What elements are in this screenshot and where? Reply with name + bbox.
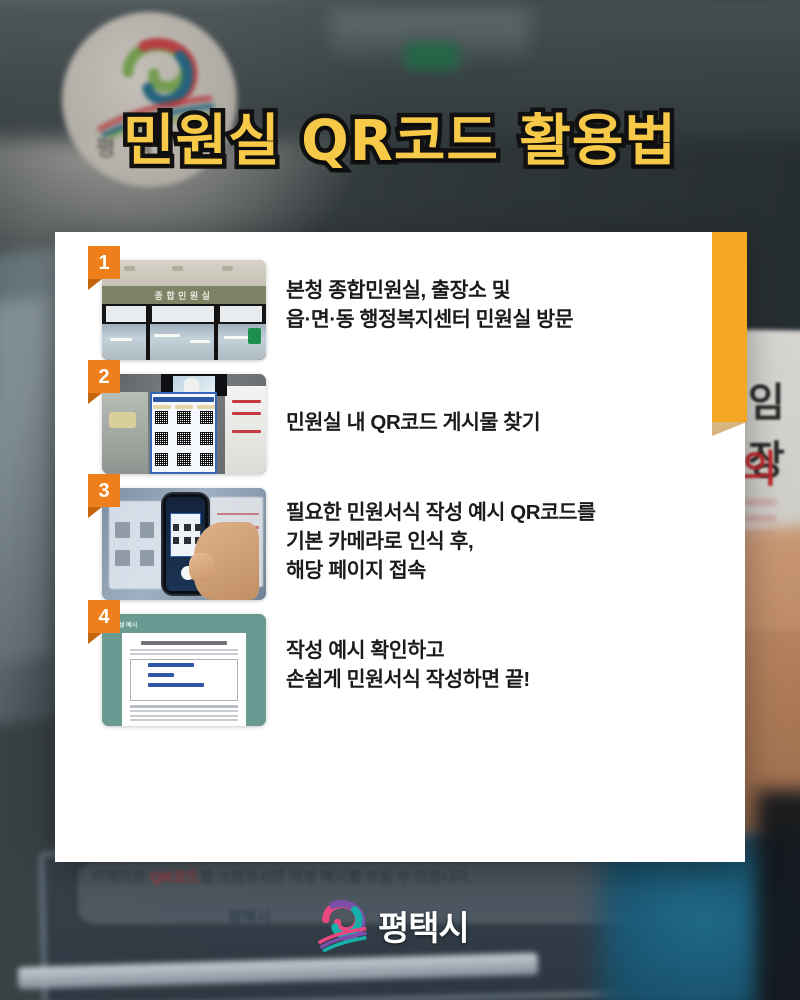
thumb1-ceiling [102, 260, 266, 288]
thumb2-banner-line [232, 400, 262, 403]
thumb1-interior [102, 324, 266, 360]
caption-head: 카메라로 [92, 870, 150, 886]
thumb2-left-wall [102, 392, 148, 474]
step-thumbnail-wrap: 3 [102, 488, 266, 600]
step-number-badge: 2 [88, 360, 120, 393]
step-description: 민원실 내 QR코드 게시물 찾기 [286, 374, 540, 437]
thumb1-ceiling-dot [124, 266, 135, 271]
thumb1-lamp [110, 338, 132, 341]
background-dark-edge [756, 790, 800, 1000]
thumb4-doc-title [141, 641, 226, 645]
thumb2-qr-code [177, 432, 190, 445]
thumb1-sign-band: 종합민원실 [102, 286, 266, 304]
page-title: 민원실 QR코드 활용법 [0, 96, 800, 177]
thumb2-qr-code [155, 432, 168, 445]
thumb1-sign-text: 종합민원실 [155, 289, 214, 302]
thumb4-doc-line [130, 705, 238, 708]
thumb3-captured-qr [173, 537, 180, 544]
thumb1-ceiling-dot [172, 266, 183, 271]
thumb2-qr-code [177, 453, 190, 466]
thumb2-banner-line [232, 412, 262, 415]
step4-thumbnail: 작성 예시 [102, 614, 266, 726]
thumb2-qr-label [153, 405, 171, 409]
thumb2-tv-person [184, 378, 199, 393]
step1-thumbnail: 종합민원실 [102, 260, 266, 360]
thumb3-thumb-finger [189, 553, 214, 582]
thumb1-lamp [224, 336, 248, 339]
step-number-badge: 3 [88, 474, 120, 507]
step-item: 4 작성 예시 [55, 614, 745, 726]
thumb2-qr-code [155, 411, 168, 424]
thumb1-mullion [146, 304, 150, 360]
thumb1-mullion [214, 304, 218, 360]
step-item: 2 [55, 374, 745, 474]
thumb1-exit-marker [248, 328, 261, 344]
infographic-canvas: 평 택 임장 의 카메라로 QR코드를 스캔하시면 작성 예시를 보실 수 있습… [0, 0, 800, 1000]
exit-sign [405, 42, 459, 70]
thumb4-doc-line [130, 710, 238, 712]
right-poster-text-red: 의 [742, 438, 776, 493]
thumb3-board-qr [115, 522, 130, 539]
step-description: 본청 종합민원실, 출장소 및 읍·면·동 행정복지센터 민원실 방문 [286, 260, 573, 334]
thumb2-qr-code [155, 453, 168, 466]
thumb4-highlight [148, 683, 204, 686]
thumb4-highlight [148, 673, 174, 676]
thumb1-lamp [154, 334, 180, 337]
step2-thumbnail [102, 374, 266, 474]
thumb1-glass [106, 306, 146, 322]
thumb2-qr-code [177, 411, 190, 424]
thumb1-glass [152, 306, 214, 322]
step-thumbnail-wrap: 1 종합민원실 [102, 260, 266, 360]
steps-list: 1 종합민원실 [55, 260, 745, 726]
orange-ribbon-accent [712, 232, 747, 422]
thumb4-doc-line [130, 719, 238, 721]
step-number-badge: 4 [88, 600, 120, 633]
thumb1-lamp [190, 340, 210, 343]
thumb3-board-qr [140, 550, 155, 567]
brand-logo: 평택시 [315, 898, 469, 952]
step-thumbnail-wrap: 4 작성 예시 [102, 614, 266, 726]
thumb2-qr-label [197, 405, 215, 409]
step-item: 3 [55, 488, 745, 600]
thumb2-qr-code [200, 411, 213, 424]
thumb3-captured-qr [184, 537, 191, 544]
thumb2-leaflet [109, 412, 137, 428]
thumb3-board-qr [140, 522, 155, 539]
thumb2-qr-code [200, 453, 213, 466]
thumb2-banner-line [232, 430, 262, 433]
step-number-badge: 1 [88, 246, 120, 279]
brand-name: 평택시 [378, 901, 469, 950]
thumb3-panel-line [217, 513, 260, 516]
background-poster-caption: 카메라로 QR코드를 스캔하시면 작성 예시를 보실 수 있습니다. [92, 866, 672, 887]
thumb2-qr-code [200, 432, 213, 445]
step-item: 1 종합민원실 [55, 260, 745, 360]
step-thumbnail-wrap: 2 [102, 374, 266, 474]
thumb3-captured-qr [195, 524, 202, 531]
pyeongtaek-city-logo-icon [315, 898, 369, 952]
thumb2-poster-title [153, 397, 214, 402]
thumb3-captured-qr [173, 524, 180, 531]
step-description: 필요한 민원서식 작성 예시 QR코드를 기본 카메라로 인식 후, 해당 페이… [286, 488, 596, 585]
content-card: 1 종합민원실 [55, 232, 745, 862]
step-description: 작성 예시 확인하고 손쉽게 민원서식 작성하면 끝! [286, 614, 530, 694]
thumb4-doc-line [130, 649, 238, 651]
caption-highlight: QR코드 [150, 870, 199, 886]
thumb4-highlight [148, 663, 194, 666]
left-glass-reflection [0, 296, 52, 665]
thumb1-ceiling-dot [222, 266, 233, 271]
thumb3-board-qr [115, 550, 130, 567]
thumb2-qr-label [175, 405, 193, 409]
thumb3-captured-qr [184, 524, 191, 531]
thumb1-glass [220, 306, 262, 322]
thumb4-doc-line [130, 715, 238, 717]
caption-tail: 를 스캔하시면 작성 예시를 보실 수 있습니다. [200, 870, 473, 886]
background-mini-logo: 평택시 [228, 906, 271, 927]
thumb4-doc-line [130, 653, 238, 655]
step3-thumbnail [102, 488, 266, 600]
